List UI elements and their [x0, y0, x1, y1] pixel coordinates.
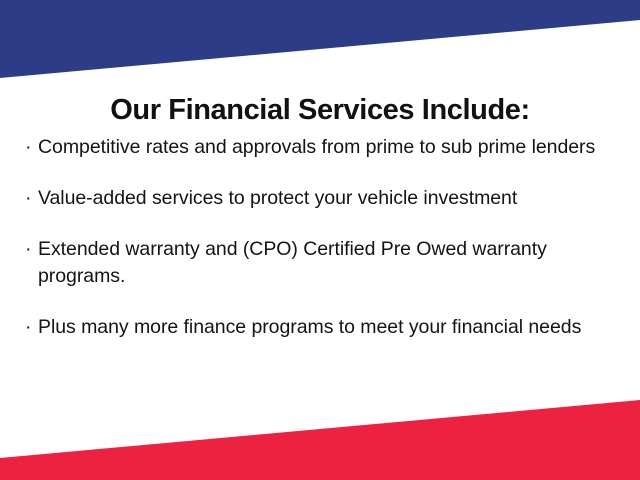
bullet-marker-icon: ·: [25, 134, 31, 161]
bullet-item: · Competitive rates and approvals from p…: [24, 134, 624, 161]
bullet-item-text: Value-added services to protect your veh…: [38, 185, 624, 212]
blue-angled-band: [0, 0, 640, 90]
bullet-item: · Extended warranty and (CPO) Certified …: [24, 236, 624, 290]
bullet-item-text: Plus many more finance programs to meet …: [38, 314, 624, 341]
slide-title: Our Financial Services Include:: [0, 95, 640, 127]
bullet-item-text: Extended warranty and (CPO) Certified Pr…: [38, 236, 624, 290]
bullet-marker-icon: ·: [25, 236, 31, 263]
bullet-item: · Plus many more finance programs to mee…: [24, 314, 624, 341]
bullet-list: · Competitive rates and approvals from p…: [24, 134, 624, 341]
bullet-marker-icon: ·: [25, 185, 31, 212]
bullet-item-text: Competitive rates and approvals from pri…: [38, 134, 624, 161]
bullet-marker-icon: ·: [25, 314, 31, 341]
red-angled-band: [0, 390, 640, 480]
bullet-item: · Value-added services to protect your v…: [24, 185, 624, 212]
presentation-slide: Our Financial Services Include: · Compet…: [0, 0, 640, 480]
